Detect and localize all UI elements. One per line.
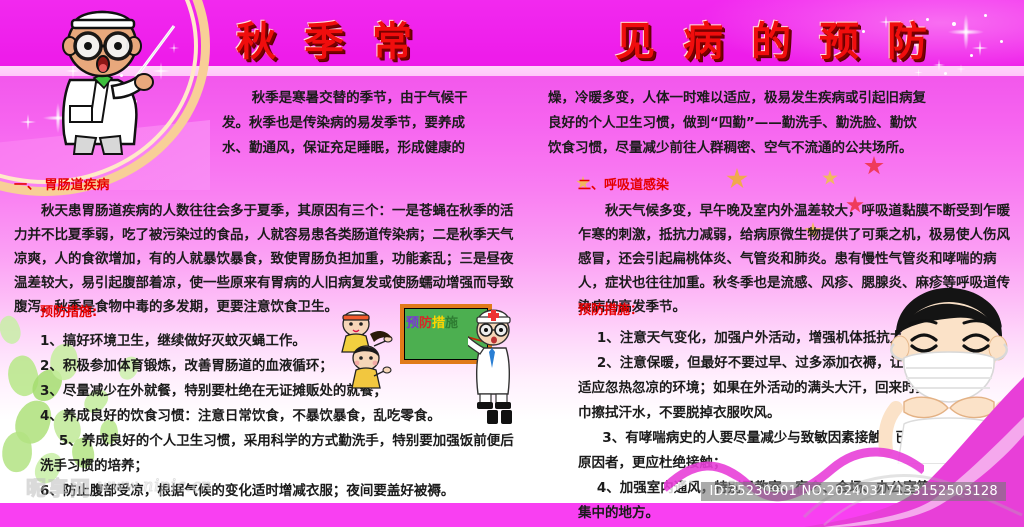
sparkle-icon <box>954 62 968 76</box>
intro-left-line-1: 秋季是寒暑交替的季节，由于气候干 <box>222 86 542 111</box>
intro-right-line-3: 饮食习惯，尽量减少前往人群稠密、空气不流通的公共场所。 <box>548 136 1018 161</box>
blackboard-char: 施 <box>445 316 458 331</box>
intro-left-column: 秋季是寒暑交替的季节，由于气候干 发。秋季也是传染病的易发季节，要养成 水、勤通… <box>222 86 542 161</box>
sparkle-dot-icon <box>944 72 947 75</box>
watermark-url: www.nipic.cn <box>98 475 212 497</box>
intro-right-column: 燥，冷暖多变，人体一时难以适应，极易发生疾病或引起旧病复 良好的个人卫生习惯，做… <box>548 86 1018 161</box>
left-measure-item: 3、尽量减少在外就餐，特别要杜绝在无证摊贩处的就餐； <box>40 379 510 404</box>
blackboard-doctor-illustration <box>468 302 524 412</box>
poster-canvas: 秋 季 常 见 病 的 预 防 <box>0 0 1024 527</box>
poster-title: 秋 季 常 见 病 的 预 防 <box>236 12 936 64</box>
blackboard-char: 防 <box>419 316 432 331</box>
sparkle-dot-icon <box>984 14 987 17</box>
title-right-part: 见 病 的 预 防 <box>615 9 936 67</box>
left-section: 一、 胃肠道疾病 秋天患胃肠道疾病的人数往往会多于夏季，其原因有三个：一是苍蝇在… <box>14 176 514 319</box>
intro-left-line-3: 水、勤通风，保证充足睡眠，形成健康的 <box>222 136 542 161</box>
swirl-decoration <box>764 407 1024 527</box>
intro-right-line-1: 燥，冷暖多变，人体一时难以适应，极易发生疾病或引起旧病复 <box>548 86 1018 111</box>
intro-right-line-2: 良好的个人卫生习惯，做到“四勤”——勤洗手、勤洗脸、勤饮 <box>548 111 1018 136</box>
left-section-heading: 一、 胃肠道疾病 <box>14 176 514 196</box>
image-id-badge: ID:35230901 NO:20240317133152503128 <box>701 482 1006 501</box>
cartoon-doctor-illustration <box>26 2 186 162</box>
intro-left-line-2: 发。秋季也是传染病的易发季节，要养成 <box>222 111 542 136</box>
kids-illustration <box>330 306 400 406</box>
sparkle-dot-icon <box>952 22 956 26</box>
blackboard-char: 预 <box>406 316 419 331</box>
left-section-paragraph: 秋天患胃肠道疾病的人数往往会多于夏季，其原因有三个：一是苍蝇在秋季的活力并不比夏… <box>14 199 514 319</box>
shoes-icon <box>487 408 513 426</box>
sparkle-dot-icon <box>1000 40 1003 43</box>
sparkle-icon <box>912 66 925 79</box>
title-left-part: 秋 季 常 <box>236 9 421 67</box>
right-section-heading: 二、呼吸道感染 <box>578 176 1018 196</box>
left-measure-item: 4、养成良好的饮食习惯：注意日常饮食，不暴饮暴食，乱吃零食。 <box>40 404 510 429</box>
watermark: 昵享网 www.nipic.cn <box>26 471 212 501</box>
blackboard-char: 措 <box>432 316 445 331</box>
watermark-logo: 昵享网 <box>26 472 92 501</box>
sparkle-dot-icon <box>970 54 973 57</box>
